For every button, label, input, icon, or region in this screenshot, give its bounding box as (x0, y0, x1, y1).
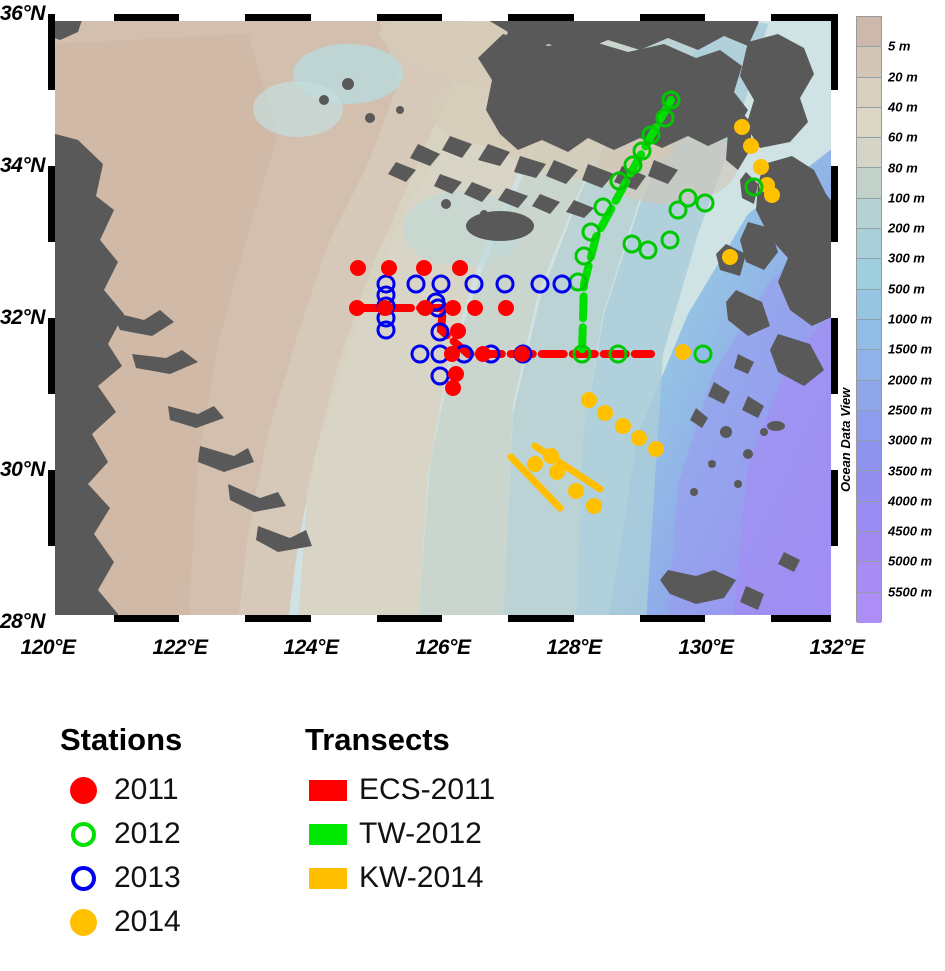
map-canvas (48, 14, 838, 622)
colorbar-cell-1 (857, 47, 881, 77)
colorbar-label-4: 80 m (888, 160, 918, 175)
colorbar-label-1: 20 m (888, 69, 918, 84)
legend-marker-2011 (60, 777, 106, 804)
colorbar-label-10: 1500 m (888, 342, 932, 357)
colorbar-label-8: 500 m (888, 281, 925, 296)
colorbar-cell-5 (857, 168, 881, 198)
x-tick-0: 120°E (21, 636, 76, 660)
colorbar-cell-11 (857, 350, 881, 380)
map-panel (48, 14, 838, 622)
legend-station-2011[interactable]: 2011 (60, 768, 182, 812)
y-tick-0: 28°N (0, 610, 44, 634)
colorbar-cell-17 (857, 532, 881, 562)
legend-transect-ecs-2011[interactable]: ECS-2011 (305, 768, 495, 812)
colorbar-label-14: 3500 m (888, 463, 932, 478)
colorbar-label-0: 5 m (888, 39, 910, 54)
legend-station-2013[interactable]: 2013 (60, 856, 182, 900)
station-marker-icon (70, 777, 97, 804)
legend-marker-2014 (60, 909, 106, 936)
colorbar-cell-7 (857, 229, 881, 259)
colorbar-cell-12 (857, 381, 881, 411)
legend-station-2014[interactable]: 2014 (60, 900, 182, 944)
station-marker-icon (71, 866, 96, 891)
map-frame-left (48, 14, 55, 622)
transect-color-swatch (309, 780, 347, 801)
colorbar-cell-10 (857, 320, 881, 350)
station-marker-icon (70, 909, 97, 936)
legend-stations-column: Stations 2011201220132014 (60, 722, 182, 944)
ocean-data-view-watermark: Ocean Data View (838, 388, 853, 492)
legend-marker-2013 (60, 866, 106, 891)
colorbar-label-6: 200 m (888, 221, 925, 236)
x-tick-6: 132°E (810, 636, 865, 660)
colorbar-cell-2 (857, 78, 881, 108)
colorbar-cell-14 (857, 441, 881, 471)
y-tick-3: 34°N (0, 154, 44, 178)
colorbar-label-7: 300 m (888, 251, 925, 266)
colorbar-cell-18 (857, 562, 881, 592)
station-marker-icon (71, 822, 96, 847)
x-tick-2: 124°E (284, 636, 339, 660)
colorbar-label-13: 3000 m (888, 433, 932, 448)
colorbar-cell-15 (857, 471, 881, 501)
legend-transects-title: Transects (305, 722, 495, 758)
colorbar-cell-4 (857, 138, 881, 168)
colorbar-label-18: 5500 m (888, 584, 932, 599)
colorbar-label-5: 100 m (888, 190, 925, 205)
colorbar-cell-3 (857, 108, 881, 138)
legend-swatch-KW-2014 (305, 868, 351, 889)
x-tick-4: 128°E (547, 636, 602, 660)
legend-swatch-TW-2012 (305, 824, 351, 845)
legend-transect-tw-2012[interactable]: TW-2012 (305, 812, 495, 856)
legend-station-label: 2014 (114, 905, 181, 939)
legend-swatch-ECS-2011 (305, 780, 351, 801)
legend-transect-kw-2014[interactable]: KW-2014 (305, 856, 495, 900)
colorbar-label-3: 60 m (888, 130, 918, 145)
legend: Stations 2011201220132014 Transects ECS-… (0, 722, 945, 971)
colorbar-label-16: 4500 m (888, 524, 932, 539)
x-tick-5: 130°E (679, 636, 734, 660)
transect-color-swatch (309, 868, 347, 889)
y-tick-1: 30°N (0, 458, 44, 482)
legend-station-label: 2011 (114, 773, 179, 807)
map-frame-right (831, 14, 838, 622)
map-frame-top (48, 14, 838, 21)
colorbar-cell-8 (857, 259, 881, 289)
legend-transect-label: TW-2012 (359, 817, 482, 851)
y-tick-4: 36°N (0, 2, 44, 26)
colorbar-label-2: 40 m (888, 99, 918, 114)
legend-stations-title: Stations (60, 722, 182, 758)
depth-colorbar (856, 16, 882, 622)
legend-marker-2012 (60, 822, 106, 847)
colorbar-label-9: 1000 m (888, 312, 932, 327)
map-frame-bottom (48, 615, 838, 622)
bathymetry-layer (48, 14, 838, 622)
legend-transect-label: KW-2014 (359, 861, 484, 895)
colorbar-label-17: 5000 m (888, 554, 932, 569)
x-tick-3: 126°E (416, 636, 471, 660)
legend-transects-column: Transects ECS-2011TW-2012KW-2014 (305, 722, 495, 900)
legend-transect-label: ECS-2011 (359, 773, 495, 807)
colorbar-cell-0 (857, 17, 881, 47)
colorbar-cell-last (857, 593, 881, 623)
legend-station-label: 2013 (114, 861, 181, 895)
colorbar-cell-6 (857, 199, 881, 229)
x-tick-1: 122°E (153, 636, 208, 660)
colorbar-label-11: 2000 m (888, 372, 932, 387)
legend-station-label: 2012 (114, 817, 181, 851)
map-svg (48, 14, 838, 622)
y-tick-2: 32°N (0, 306, 44, 330)
colorbar-label-12: 2500 m (888, 402, 932, 417)
colorbar-label-15: 4000 m (888, 493, 932, 508)
transect-color-swatch (309, 824, 347, 845)
figure-root: 120°E 122°E 124°E 126°E 128°E 130°E 132°… (0, 0, 945, 971)
colorbar-cell-13 (857, 411, 881, 441)
colorbar-cell-16 (857, 502, 881, 532)
colorbar-cell-9 (857, 290, 881, 320)
legend-station-2012[interactable]: 2012 (60, 812, 182, 856)
